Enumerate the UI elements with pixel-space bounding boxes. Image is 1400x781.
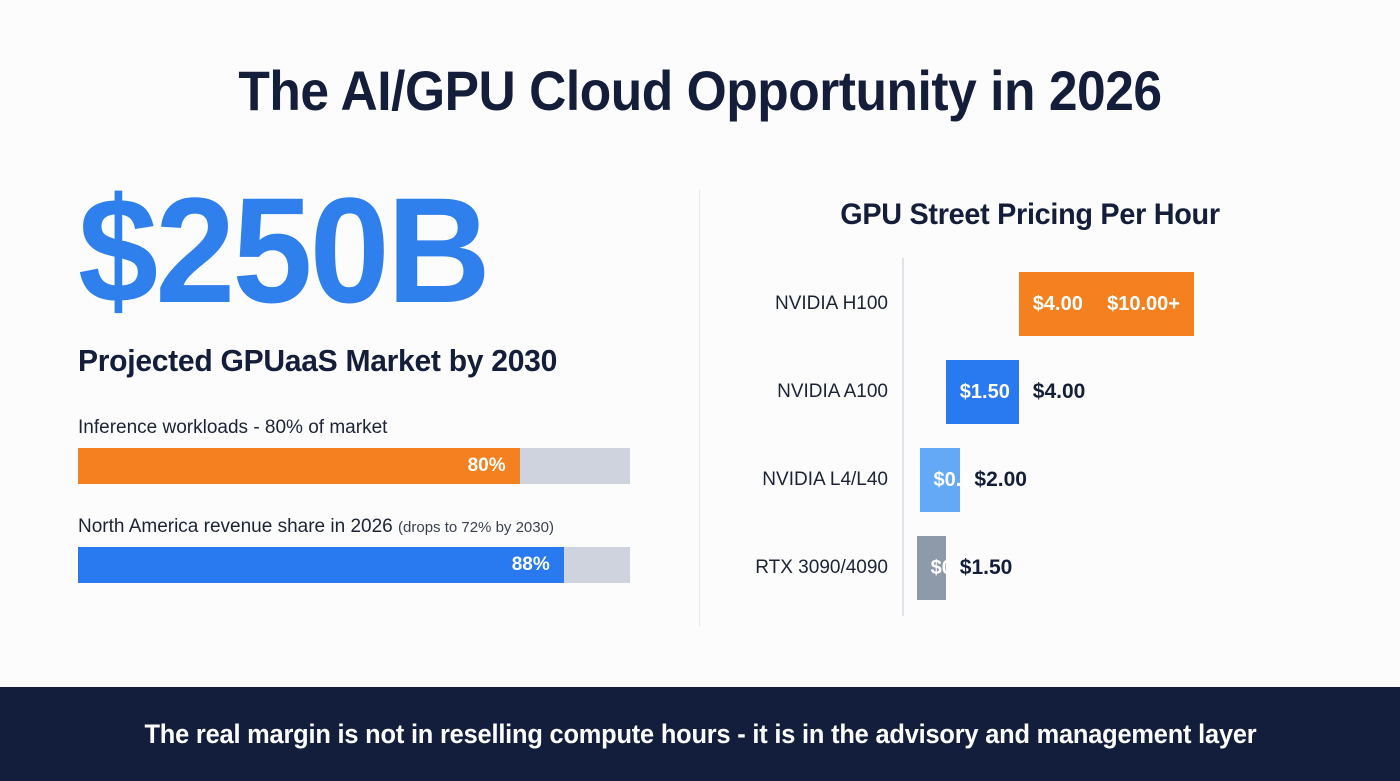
progress-sublabel-text: (drops to 72% by 2030) — [398, 519, 554, 536]
chart-bar-min-label: $1.50 — [946, 381, 1010, 404]
chart-category-label: RTX 3090/4090 — [700, 557, 888, 579]
chart-bar-max-label: $2.00 — [974, 468, 1027, 492]
chart-bar-row: NVIDIA H100$4.00$10.00+ — [700, 260, 1390, 348]
gpu-pricing-panel: GPU Street Pricing Per Hour NVIDIA H100$… — [700, 190, 1390, 630]
progress-fill-north-america: 88% — [78, 547, 564, 583]
headline-stat-value: $250B — [78, 175, 616, 335]
progress-label-text: Inference workloads - 80% of market — [78, 417, 387, 438]
chart-bar-min-label: $4.00 — [1019, 293, 1083, 316]
chart-range-bar[interactable]: $4.00$10.00+ — [1019, 272, 1194, 336]
chart-bar-row: NVIDIA A100$1.50$4.00 — [700, 348, 1390, 436]
chart-bar-max-label: $4.00 — [1033, 380, 1086, 404]
chart-category-label: NVIDIA A100 — [700, 381, 888, 403]
progress-item-north-america: North America revenue share in 2026 (dro… — [78, 516, 638, 583]
progress-value-north-america: 88% — [512, 554, 564, 576]
progress-label-north-america: North America revenue share in 2026 (dro… — [78, 516, 638, 538]
chart-category-label: NVIDIA H100 — [700, 293, 888, 315]
chart-range-bar[interactable]: $1.50 — [946, 360, 1019, 424]
page-title: The AI/GPU Cloud Opportunity in 2026 — [56, 58, 1344, 123]
footer-text: The real margin is not in reselling comp… — [144, 719, 1256, 750]
chart-plot-area: NVIDIA H100$4.00$10.00+NVIDIA A100$1.50$… — [700, 258, 1390, 616]
chart-bar-row: RTX 3090/4090$0.50$1.50 — [700, 524, 1390, 612]
chart-range-bar[interactable]: $0.50 — [917, 536, 946, 600]
chart-bar-row: NVIDIA L4/L40$0.60$2.00 — [700, 436, 1390, 524]
progress-track-north-america: 88% — [78, 547, 630, 583]
chart-title: GPU Street Pricing Per Hour — [713, 198, 1347, 232]
chart-range-bar[interactable]: $0.60 — [920, 448, 961, 512]
market-size-panel: $250B Projected GPUaaS Market by 2030 In… — [78, 175, 638, 583]
footer-banner: The real margin is not in reselling comp… — [0, 687, 1400, 781]
chart-bar-max-label: $1.50 — [960, 556, 1013, 580]
progress-track-inference: 80% — [78, 448, 630, 484]
progress-value-inference: 80% — [468, 455, 520, 477]
progress-item-inference: Inference workloads - 80% of market 80% — [78, 417, 638, 484]
progress-label-text: North America revenue share in 2026 — [78, 516, 398, 537]
progress-label-inference: Inference workloads - 80% of market — [78, 417, 638, 439]
chart-bar-max-label: $10.00+ — [1107, 293, 1194, 316]
progress-fill-inference: 80% — [78, 448, 520, 484]
headline-stat-caption: Projected GPUaaS Market by 2030 — [78, 343, 621, 379]
chart-category-label: NVIDIA L4/L40 — [700, 469, 888, 491]
